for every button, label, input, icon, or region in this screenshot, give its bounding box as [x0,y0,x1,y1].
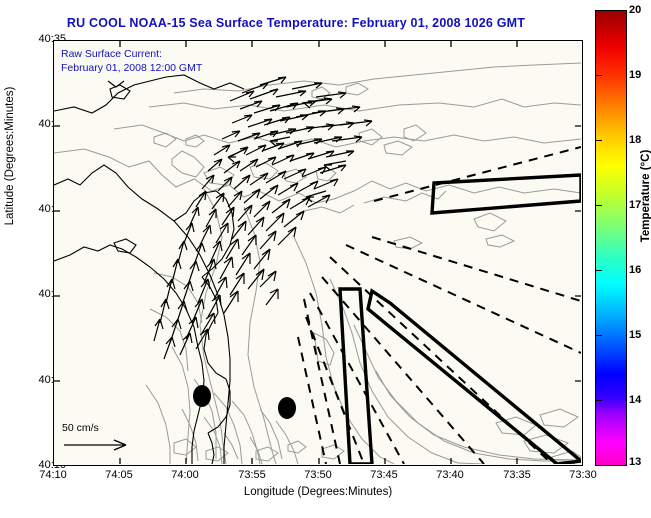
surface-current-vectors [154,77,372,359]
station-markers[interactable] [193,385,296,419]
x-tick-label: 73:40 [420,469,480,481]
annotation-line-2: February 01, 2008 12:00 GMT [61,61,202,75]
annotation-line-1: Raw Surface Current: [61,47,202,61]
colorbar-tick-label: 19 [629,69,641,81]
colorbar-label: Temperature (°C) [640,106,651,286]
x-tick-label: 74:10 [23,469,83,481]
y-axis-label: Latitude (Degrees:Minutes) [4,56,16,256]
colorbar-tick-label: 14 [629,394,641,406]
x-tick-label: 74:05 [89,469,149,481]
scale-legend-label: 50 cm/s [62,422,134,434]
station-marker-1[interactable] [193,385,211,407]
x-tick-label: 73:35 [487,469,547,481]
colorbar-tick-label: 15 [629,329,641,341]
annotation-block: Raw Surface Current: February 01, 2008 1… [61,47,202,75]
figure-canvas: RU COOL NOAA-15 Sea Surface Temperature:… [0,0,651,518]
map-plot-area[interactable]: Raw Surface Current: February 01, 2008 1… [53,40,583,466]
x-tick-label: 73:55 [222,469,282,481]
colorbar-tick-mark [595,400,602,401]
colorbar-tick-label: 20 [629,4,641,16]
bathymetry-contours [54,63,581,464]
figure-title: RU COOL NOAA-15 Sea Surface Temperature:… [0,16,592,30]
colorbar-tick-mark [595,270,602,271]
shipping-corridors [340,175,581,464]
x-axis-label: Longitude (Degrees:Minutes) [53,486,583,498]
map-content: Raw Surface Current: February 01, 2008 1… [54,41,582,465]
x-tick-label: 73:45 [354,469,414,481]
x-tick-label: 74:00 [155,469,215,481]
right-arrow-icon [62,434,134,454]
colorbar-tick-mark [595,140,602,141]
station-marker-2[interactable] [278,397,296,419]
colorbar-tick-mark [595,335,602,336]
map-svg [54,41,581,464]
colorbar-tick-mark [595,205,602,206]
coastline [54,75,244,464]
x-tick-label: 73:30 [553,469,613,481]
axis-tick-marks [54,41,581,464]
scale-legend: 50 cm/s [62,422,134,459]
colorbar-tick-mark [595,75,602,76]
temperature-colorbar[interactable] [595,10,627,466]
x-tick-label: 73:50 [288,469,348,481]
colorbar-tick-label: 13 [629,456,641,468]
